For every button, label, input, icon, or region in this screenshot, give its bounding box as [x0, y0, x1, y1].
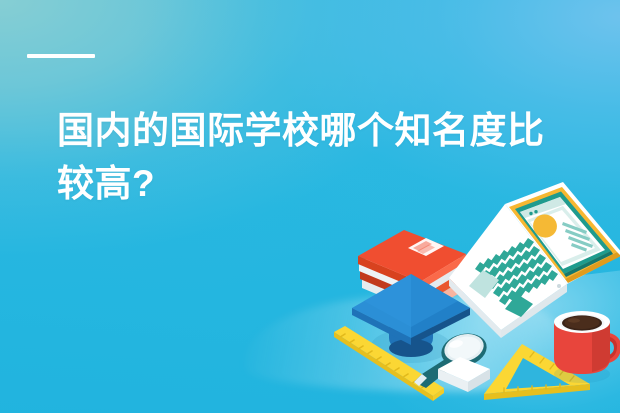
promo-banner: 国内的国际学校哪个知名度比较高?: [0, 0, 620, 413]
accent-bar: [27, 54, 95, 58]
coffee-mug: [544, 302, 620, 380]
education-illustration: [330, 186, 620, 413]
